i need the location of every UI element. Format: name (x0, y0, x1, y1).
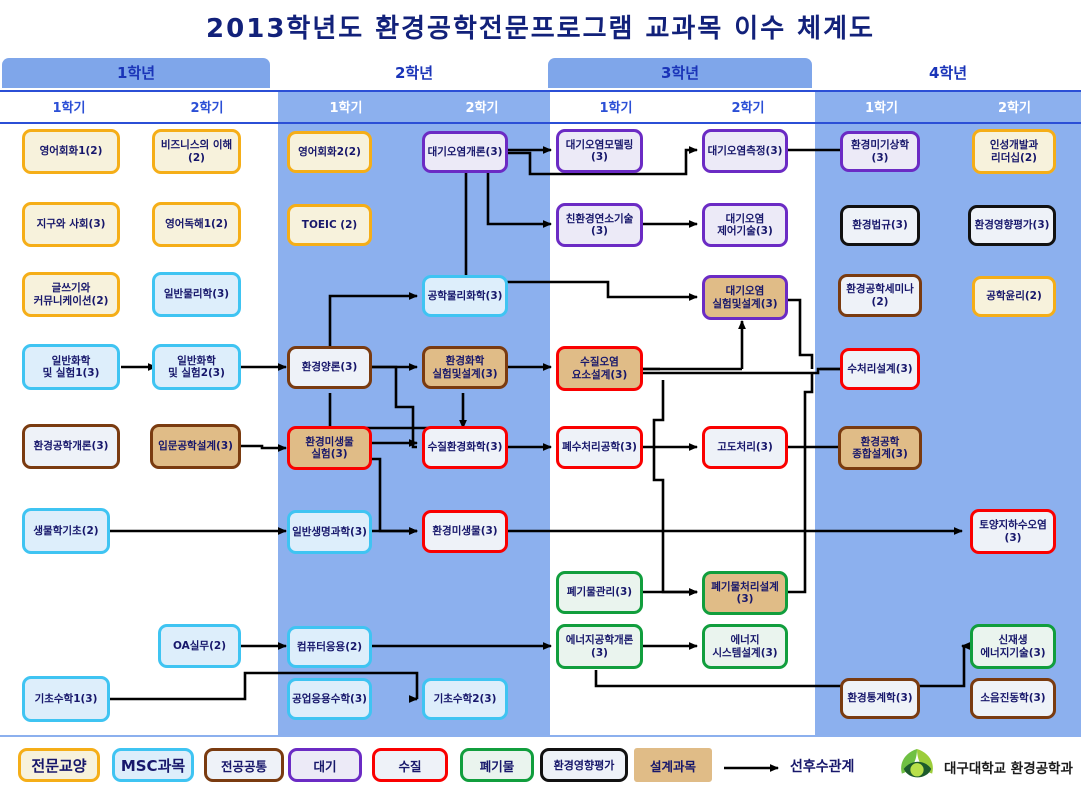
course-box[interactable]: 소음진동학(3) (970, 678, 1056, 719)
course-box[interactable]: 환경미생물실험(3) (287, 426, 372, 470)
legend-item-gyoyang[interactable]: 전문교양 (18, 748, 100, 782)
legend-item-eia[interactable]: 환경영향평가 (540, 748, 628, 782)
course-label: 수질오염요소설계(3) (561, 356, 638, 380)
legend-item-msc[interactable]: MSC과목 (112, 748, 194, 782)
course-box[interactable]: 수질오염요소설계(3) (556, 346, 643, 391)
course-box[interactable]: 생물학기초(2) (22, 508, 110, 554)
course-label: 환경미생물실험(3) (292, 436, 367, 460)
legend-label: 환경영향평가 (554, 757, 615, 773)
course-box[interactable]: 기초수학1(3) (22, 676, 110, 722)
course-label: 대기오염제어기술(3) (707, 213, 783, 237)
course-label: 고도처리(3) (707, 441, 783, 453)
course-label: 소음진동학(3) (975, 692, 1051, 704)
university-name: 대구대학교 환경공학과 (944, 757, 1073, 777)
course-box[interactable]: 일반물리학(3) (152, 272, 241, 317)
course-box[interactable]: 환경영향평가(3) (968, 205, 1056, 246)
course-box[interactable]: 입문공학설계(3) (150, 424, 241, 469)
course-box[interactable]: 대기오염모델링(3) (556, 129, 643, 173)
course-box[interactable]: 수처리설계(3) (840, 348, 920, 390)
course-label: 대기오염실험및설계(3) (707, 285, 783, 309)
course-label: 에너지공학개론(3) (561, 634, 638, 658)
course-label: 대기오염측정(3) (707, 145, 783, 157)
course-box[interactable]: 친환경연소기술(3) (556, 203, 643, 247)
course-label: 환경영향평가(3) (973, 219, 1051, 231)
legend-item-waste[interactable]: 폐기물 (460, 748, 534, 782)
course-label: 친환경연소기술(3) (561, 213, 638, 237)
course-label: 환경공학세미나(2) (843, 283, 917, 307)
course-label: 환경공학개론(3) (27, 440, 115, 452)
course-box[interactable]: 영어회화1(2) (22, 129, 120, 174)
course-box[interactable]: 영어독해1(2) (152, 202, 241, 247)
course-label: 글쓰기와커뮤니케이션(2) (27, 282, 115, 306)
course-box[interactable]: 일반화학및 실험2(3) (152, 344, 241, 390)
course-box[interactable]: 인성개발과리더십(2) (972, 129, 1056, 174)
semester-header-1-2: 2학기 (140, 98, 274, 120)
legend-item-air[interactable]: 대기 (288, 748, 362, 782)
course-box[interactable]: 수질환경화학(3) (422, 426, 508, 469)
course-label: 영어독해1(2) (157, 218, 236, 230)
course-label: 환경법규(3) (845, 219, 915, 231)
course-box[interactable]: 환경미기상학(3) (840, 131, 920, 172)
course-label: 환경통계학(3) (845, 692, 915, 704)
course-label: 영어회화1(2) (27, 145, 115, 157)
course-box[interactable]: 환경법규(3) (840, 205, 920, 246)
course-box[interactable]: 일반생명과학(3) (287, 510, 372, 554)
course-label: 환경양론(3) (292, 361, 367, 373)
course-box[interactable]: TOEIC (2) (287, 204, 372, 246)
course-box[interactable]: 에너지시스템설계(3) (702, 624, 788, 669)
page-title: 2013학년도 환경공학전문프로그램 교과목 이수 체계도 (0, 8, 1081, 45)
course-label: 컴퓨터응용(2) (292, 641, 367, 653)
semester-header-3-1: 1학기 (550, 98, 682, 120)
semester-header-4-2: 2학기 (948, 98, 1081, 120)
course-label: 일반화학및 실험1(3) (27, 355, 115, 379)
course-label: 에너지시스템설계(3) (707, 634, 783, 658)
course-box[interactable]: OA실무(2) (158, 624, 241, 668)
course-box[interactable]: 대기오염측정(3) (702, 129, 788, 173)
course-label: 토양지하수오염(3) (975, 519, 1051, 543)
course-box[interactable]: 환경통계학(3) (840, 678, 920, 719)
course-label: 생물학기초(2) (27, 525, 105, 537)
course-label: 환경미기상학(3) (845, 139, 915, 163)
course-label: 일반물리학(3) (157, 288, 236, 300)
course-box[interactable]: 고도처리(3) (702, 426, 788, 469)
semester-header-2-1: 1학기 (278, 98, 414, 120)
semester-header-1-1: 1학기 (2, 98, 136, 120)
semester-header-3-2: 2학기 (682, 98, 814, 120)
course-box[interactable]: 환경공학세미나(2) (838, 274, 922, 317)
course-label: 지구와 사회(3) (27, 218, 115, 230)
course-box[interactable]: 비즈니스의 이해(2) (152, 129, 241, 174)
course-box[interactable]: 공학물리화학(3) (422, 275, 508, 317)
course-label: 폐기물처리설계(3) (707, 581, 783, 605)
course-label: 대기오염모델링(3) (561, 139, 638, 163)
course-label: 환경화학실험및설계(3) (427, 355, 503, 379)
course-box[interactable]: 컴퓨터응용(2) (287, 626, 372, 668)
year-header-3: 3학년 (548, 58, 812, 88)
legend-label: MSC과목 (121, 755, 185, 776)
course-label: OA실무(2) (163, 640, 236, 652)
course-box[interactable]: 대기오염개론(3) (422, 131, 508, 173)
course-label: 공학물리화학(3) (427, 290, 503, 302)
course-box[interactable]: 토양지하수오염(3) (970, 509, 1056, 554)
course-label: 환경미생물(3) (427, 525, 503, 537)
course-box[interactable]: 환경화학실험및설계(3) (422, 346, 508, 389)
legend-label: 폐기물 (480, 756, 515, 775)
legend-label: 수질 (398, 756, 421, 775)
year-header-1: 1학년 (2, 58, 270, 88)
course-box[interactable]: 환경미생물(3) (422, 510, 508, 553)
course-label: 신재생에너지기술(3) (975, 634, 1051, 658)
course-label: 기초수학1(3) (27, 693, 105, 705)
course-box[interactable]: 공학윤리(2) (972, 276, 1056, 317)
university-logo-icon (898, 748, 936, 784)
course-box[interactable]: 폐기물처리설계(3) (702, 571, 788, 615)
course-label: 영어회화2(2) (292, 146, 367, 158)
course-label: 일반생명과학(3) (292, 526, 367, 538)
legend-label: 설계과목 (650, 756, 696, 775)
course-label: 공업응용수학(3) (292, 693, 367, 705)
course-label: 대기오염개론(3) (427, 146, 503, 158)
course-label: 환경공학종합설계(3) (843, 436, 917, 460)
course-box[interactable]: 영어회화2(2) (287, 131, 372, 173)
course-label: 수처리설계(3) (845, 363, 915, 375)
legend-label: 전문교양 (31, 755, 86, 776)
course-box[interactable]: 대기오염제어기술(3) (702, 203, 788, 247)
legend-item-common[interactable]: 전공공통 (204, 748, 284, 782)
course-box[interactable]: 지구와 사회(3) (22, 202, 120, 247)
course-label: 수질환경화학(3) (427, 441, 503, 453)
course-box[interactable]: 폐수처리공학(3) (556, 426, 643, 469)
semester-header-4-1: 1학기 (815, 98, 948, 120)
course-label: 폐기물관리(3) (561, 586, 638, 598)
legend-relation-label: 선후수관계 (790, 756, 854, 776)
course-box[interactable]: 환경공학개론(3) (22, 424, 120, 469)
course-box[interactable]: 일반화학및 실험1(3) (22, 344, 120, 390)
course-label: 입문공학설계(3) (155, 440, 236, 452)
legend-item-water[interactable]: 수질 (372, 748, 448, 782)
course-box[interactable]: 신재생에너지기술(3) (970, 624, 1056, 669)
course-box[interactable]: 에너지공학개론(3) (556, 624, 643, 669)
course-box[interactable]: 대기오염실험및설계(3) (702, 275, 788, 320)
course-box[interactable]: 공업응용수학(3) (287, 678, 372, 720)
course-label: 폐수처리공학(3) (561, 441, 638, 453)
course-box[interactable]: 글쓰기와커뮤니케이션(2) (22, 272, 120, 317)
legend-label: 전공공통 (221, 756, 267, 775)
course-box[interactable]: 환경공학종합설계(3) (838, 426, 922, 470)
legend-item-design[interactable]: 설계과목 (634, 748, 712, 782)
course-label: 비즈니스의 이해(2) (157, 139, 236, 163)
semester-header-2-2: 2학기 (414, 98, 550, 120)
course-label: 일반화학및 실험2(3) (157, 355, 236, 379)
course-box[interactable]: 기초수학2(3) (422, 678, 508, 720)
course-label: 인성개발과리더십(2) (977, 139, 1051, 163)
course-box[interactable]: 환경양론(3) (287, 346, 372, 389)
year-header-4: 4학년 (815, 58, 1081, 88)
year-header-2: 2학년 (278, 58, 550, 88)
course-label: 공학윤리(2) (977, 290, 1051, 302)
course-label: 기초수학2(3) (427, 693, 503, 705)
legend-label: 대기 (313, 756, 336, 775)
course-box[interactable]: 폐기물관리(3) (556, 571, 643, 614)
course-label: TOEIC (2) (292, 219, 367, 231)
legend-arrow-icon (724, 762, 786, 774)
